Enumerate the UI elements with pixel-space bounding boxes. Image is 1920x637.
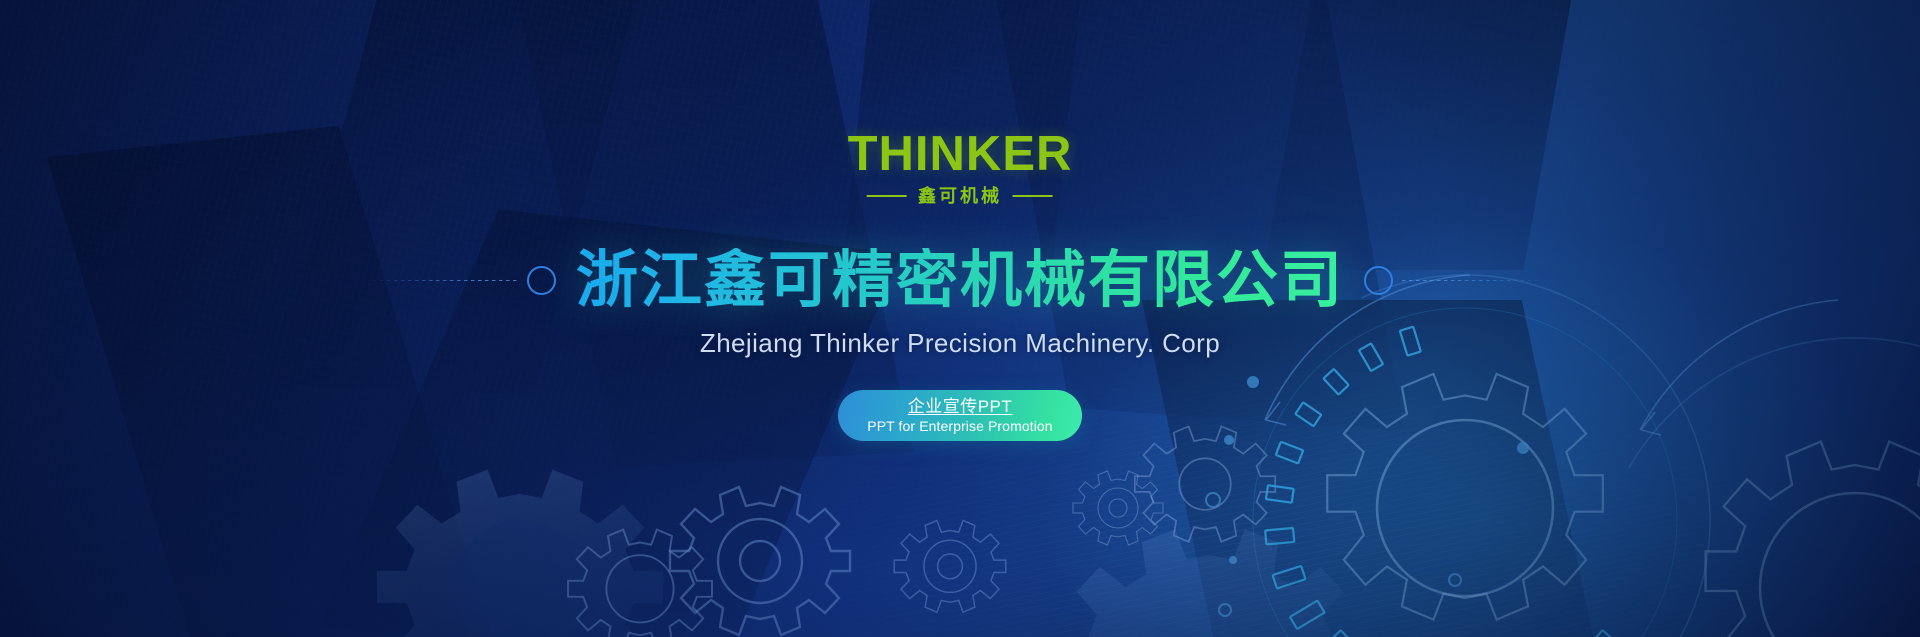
circle-outline-icon [1364, 266, 1393, 295]
title-row: 浙江鑫可精密机械有限公司 [366, 248, 1554, 313]
logo-wordmark: THINKER [848, 130, 1073, 179]
title-decor-right [1344, 266, 1554, 295]
dotted-line-icon [366, 280, 518, 281]
cta-label-en: PPT for Enterprise Promotion [867, 418, 1052, 435]
page-subtitle: Zhejiang Thinker Precision Machinery. Co… [700, 328, 1220, 359]
title-decor-left [366, 266, 576, 295]
enterprise-ppt-button[interactable]: 企业宣传PPT PPT for Enterprise Promotion [838, 390, 1082, 441]
banner-content: THINKER 鑫可机械 浙江鑫可精密机械有限公司 Zhejiang Think… [0, 0, 1920, 637]
logo-chinese-name: 鑫可机械 [918, 187, 1002, 205]
company-hero-banner: THINKER 鑫可机械 浙江鑫可精密机械有限公司 Zhejiang Think… [0, 0, 1920, 637]
cta-label-cn: 企业宣传PPT [908, 397, 1013, 417]
logo-subrow: 鑫可机械 [848, 187, 1073, 205]
company-logo: THINKER 鑫可机械 [848, 130, 1073, 205]
logo-dash-left-icon [867, 195, 907, 197]
circle-outline-icon [527, 266, 556, 295]
dotted-line-icon [1402, 280, 1554, 281]
logo-dash-right-icon [1013, 195, 1053, 197]
page-title: 浙江鑫可精密机械有限公司 [576, 248, 1344, 313]
